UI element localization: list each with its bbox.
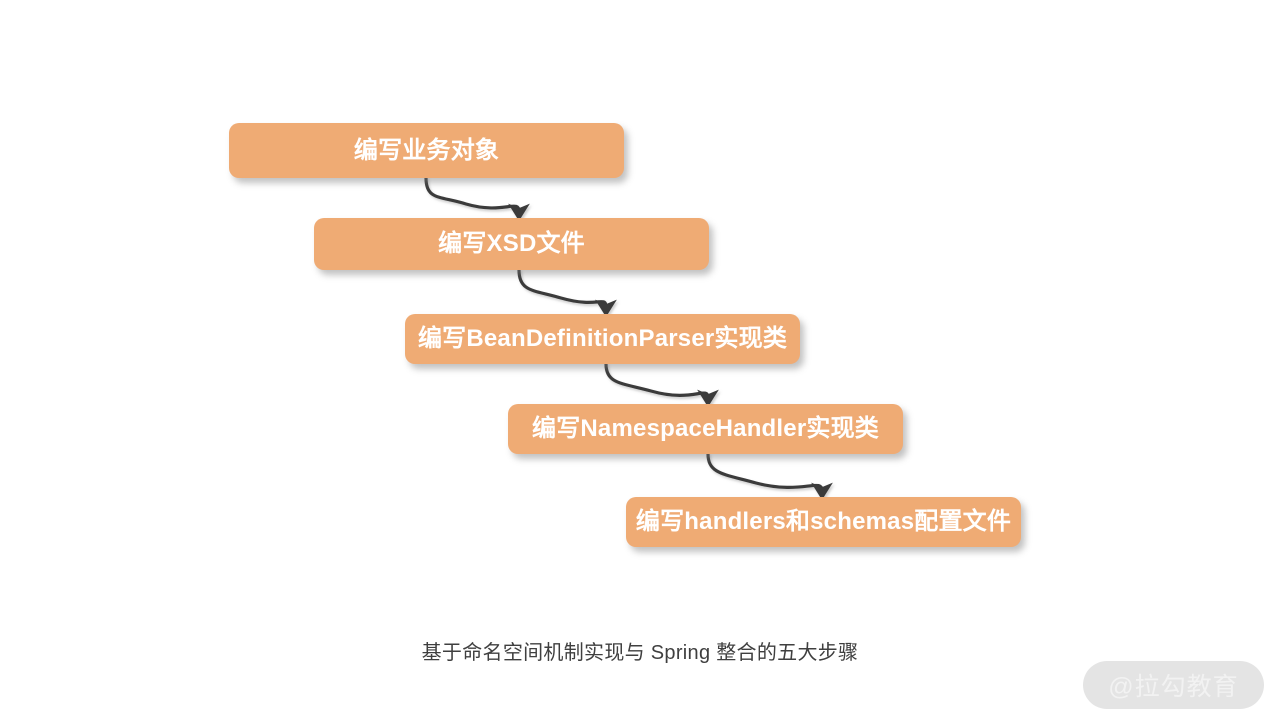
flow-step-2-label: 编写XSD文件 — [438, 232, 585, 256]
flow-step-2[interactable]: 编写XSD文件 — [314, 218, 709, 270]
flow-step-3-label: 编写BeanDefinitionParser实现类 — [418, 327, 787, 351]
diagram-caption: 基于命名空间机制实现与 Spring 整合的五大步骤 — [0, 636, 1280, 665]
flow-step-5[interactable]: 编写handlers和schemas配置文件 — [626, 497, 1021, 547]
connector-3-to-4 — [606, 364, 708, 398]
flow-step-5-label: 编写handlers和schemas配置文件 — [636, 510, 1011, 534]
diagram-canvas: 编写业务对象 编写XSD文件 编写BeanDefinitionParser实现类… — [0, 0, 1280, 720]
watermark-badge: @拉勾教育 — [1083, 661, 1264, 709]
flow-step-4[interactable]: 编写NamespaceHandler实现类 — [508, 404, 903, 454]
flow-step-4-label: 编写NamespaceHandler实现类 — [532, 417, 879, 441]
flow-step-1-label: 编写业务对象 — [354, 139, 499, 163]
flow-step-1[interactable]: 编写业务对象 — [229, 123, 624, 178]
flow-step-3[interactable]: 编写BeanDefinitionParser实现类 — [405, 314, 800, 364]
connector-2-to-3 — [519, 270, 606, 308]
watermark-label: @拉勾教育 — [1108, 667, 1238, 703]
connector-4-to-5 — [708, 454, 822, 491]
connector-1-to-2 — [426, 178, 519, 212]
